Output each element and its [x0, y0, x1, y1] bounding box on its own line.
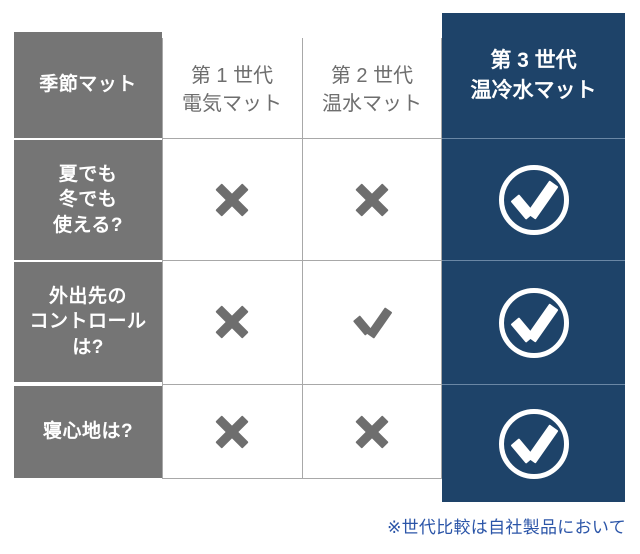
- row-label-header: 季節マット: [14, 32, 162, 138]
- cross-icon: [215, 183, 249, 217]
- row-label-2-line-0: 寝心地は?: [43, 421, 133, 442]
- row-label-header-text: 季節マット: [39, 72, 137, 98]
- column-header-gen2-line-1: 温水マット: [322, 90, 422, 118]
- row-label-1-line-2: は?: [72, 337, 104, 358]
- cell-row0-gen2: [302, 140, 442, 260]
- cell-row0-gen1: [162, 140, 302, 260]
- row-label-1-line-1: コントロール: [29, 311, 146, 332]
- column-header-gen3-line-1: 温冷水マット: [471, 76, 597, 105]
- column-header-gen2-line-0: 第 2 世代: [331, 62, 413, 90]
- footnote: ※世代比較は自社製品において: [387, 513, 626, 538]
- circle-check-icon: [499, 409, 569, 479]
- cross-icon: [355, 183, 389, 217]
- row-label-0: 夏でも 冬でも 使える?: [14, 140, 162, 260]
- cell-row2-gen1: [162, 386, 302, 478]
- row-label-0-line-1: 冬でも: [59, 189, 118, 210]
- column-header-gen3: 第 3 世代 温冷水マット: [442, 13, 625, 138]
- highlight-divider-header: [442, 138, 625, 139]
- gridline-horizontal-row1-bottom: [162, 260, 442, 261]
- cross-icon: [215, 415, 249, 449]
- cross-icon: [215, 305, 249, 339]
- row-label-1: 外出先の コントロール は?: [14, 262, 162, 382]
- gridline-horizontal-row2-bottom: [162, 384, 442, 385]
- check-icon: [352, 307, 392, 337]
- column-header-gen1-line-1: 電気マット: [182, 90, 282, 118]
- row-label-2: 寝心地は?: [14, 386, 162, 478]
- cross-icon: [355, 415, 389, 449]
- column-header-gen2: 第 2 世代 温水マット: [302, 50, 442, 130]
- column-header-gen3-line-0: 第 3 世代: [490, 46, 576, 75]
- row-label-0-line-0: 夏でも: [59, 164, 118, 185]
- highlight-column-gen3: 第 3 世代 温冷水マット: [442, 13, 625, 502]
- cell-row2-gen2: [302, 386, 442, 478]
- highlight-divider-row1: [442, 384, 625, 385]
- comparison-table: 季節マット 夏でも 冬でも 使える? 外出先の コントロール は? 寝心地は? …: [0, 0, 640, 554]
- gridline-horizontal-header-bottom: [162, 138, 442, 139]
- gridline-horizontal-row3-bottom: [162, 478, 442, 479]
- cell-row2-gen3: [442, 386, 625, 502]
- cell-row0-gen3: [442, 140, 625, 260]
- row-label-0-line-2: 使える?: [53, 215, 123, 236]
- cell-row1-gen1: [162, 262, 302, 382]
- circle-check-icon: [499, 288, 569, 358]
- cell-row1-gen3: [442, 262, 625, 384]
- row-label-1-line-0: 外出先の: [49, 286, 127, 307]
- highlight-divider-row0: [442, 260, 625, 261]
- column-header-gen1-line-0: 第 1 世代: [191, 62, 273, 90]
- column-header-gen1: 第 1 世代 電気マット: [162, 50, 302, 130]
- circle-check-icon: [499, 165, 569, 235]
- cell-row1-gen2: [302, 262, 442, 382]
